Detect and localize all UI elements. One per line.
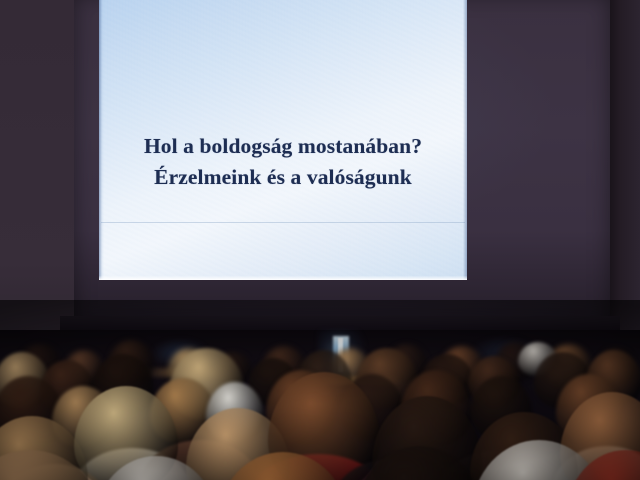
slide-title-block: Hol a boldogság mostanában? Érzelmeink é… bbox=[99, 131, 467, 193]
slide-title-line-2: Érzelmeink és a valóságunk bbox=[99, 162, 467, 193]
photo-canvas: Hol a boldogság mostanában? Érzelmeink é… bbox=[0, 0, 640, 480]
slide-left-edge bbox=[99, 0, 104, 280]
slide-bottom-edge bbox=[99, 276, 467, 280]
slide-title-line-1: Hol a boldogság mostanában? bbox=[99, 131, 467, 162]
slide-right-edge bbox=[463, 0, 467, 280]
audience-rows bbox=[0, 300, 640, 480]
wall-right-dark-band bbox=[608, 0, 640, 340]
presentation-slide: Hol a boldogság mostanában? Érzelmeink é… bbox=[99, 0, 467, 280]
slide-divider-line bbox=[101, 222, 465, 223]
